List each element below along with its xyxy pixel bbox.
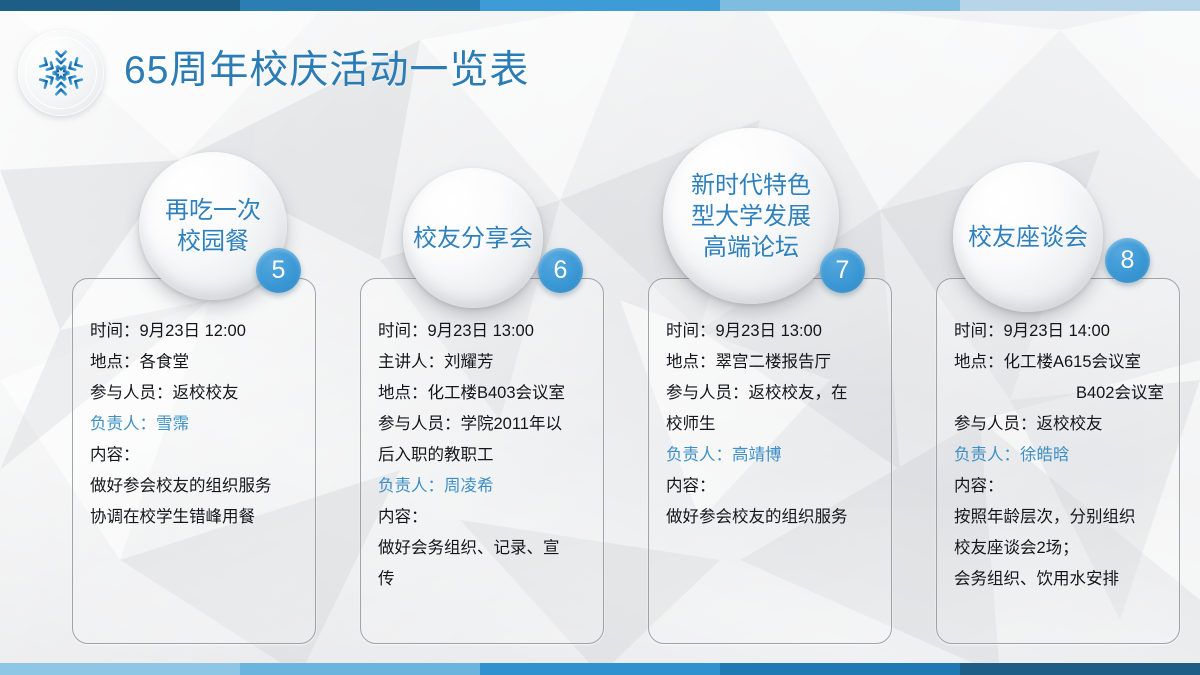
bottom-accent-bar <box>0 663 1200 675</box>
slide-header: 65周年校庆活动一览表 <box>0 11 1200 106</box>
activity-bubble-label-line: 型大学发展 <box>691 201 811 232</box>
card-body: 时间：9月23日 14:00地点：化工楼A615会议室B402会议室参与人员：返… <box>954 316 1166 595</box>
activity-bubble-label-line: 校园餐 <box>165 226 261 257</box>
top-accent-bar <box>0 0 1200 11</box>
card-detail-line: 时间：9月23日 13:00 <box>378 316 590 347</box>
card-body: 时间：9月23日 13:00主讲人：刘耀芳地点：化工楼B403会议室参与人员：学… <box>378 316 590 595</box>
card-detail-line: 会务组织、饮用水安排 <box>954 564 1166 595</box>
card-detail-line: 内容： <box>378 502 590 533</box>
card-detail-line: 主讲人：刘耀芳 <box>378 347 590 378</box>
card-detail-line: 传 <box>378 564 590 595</box>
activity-number-badge[interactable]: 8 <box>1105 238 1150 283</box>
card-detail-line: 按照年龄层次，分别组织 <box>954 502 1166 533</box>
card-detail-line: 参与人员：学院2011年以 <box>378 409 590 440</box>
card-owner-line: 负责人：徐皓晗 <box>954 440 1166 471</box>
card-owner-line: 负责人：周凌希 <box>378 471 590 502</box>
activity-bubble-7[interactable]: 新时代特色型大学发展高端论坛 <box>663 128 839 304</box>
page-title: 65周年校庆活动一览表 <box>124 39 529 95</box>
card-detail-line: 做好参会校友的组织服务 <box>90 471 302 502</box>
activity-bubble-label-line: 校友座谈会 <box>968 222 1088 253</box>
activity-bubble-label-line: 校友分享会 <box>413 223 533 254</box>
card-detail-line: 后入职的教职工 <box>378 440 590 471</box>
activity-bubble-6[interactable]: 校友分享会 <box>403 168 543 308</box>
activity-bubble-label: 校友座谈会 <box>960 222 1096 253</box>
activity-number-badge[interactable]: 5 <box>256 248 301 293</box>
accent-bar-segment-5 <box>960 0 1200 11</box>
card-detail-line: 做好参会校友的组织服务 <box>666 502 878 533</box>
activity-bubble-label-line: 再吃一次 <box>165 195 261 226</box>
snowflake-icon <box>35 47 87 99</box>
activity-number-badge[interactable]: 7 <box>820 248 865 293</box>
accent-bar-segment-2 <box>240 0 480 11</box>
activity-bubble-label-line: 新时代特色 <box>691 170 811 201</box>
logo-badge <box>18 30 104 116</box>
card-detail-line: 地点：化工楼A615会议室 <box>954 347 1166 378</box>
activity-card-6[interactable]: 时间：9月23日 13:00主讲人：刘耀芳地点：化工楼B403会议室参与人员：学… <box>360 278 604 644</box>
activity-bubble-label: 新时代特色型大学发展高端论坛 <box>683 170 819 263</box>
card-detail-line: 参与人员：返校校友，在 <box>666 378 878 409</box>
activity-bubble-label: 校友分享会 <box>405 223 541 254</box>
accent-bar-segment-3 <box>480 0 720 11</box>
card-detail-line: 参与人员：返校校友 <box>90 378 302 409</box>
card-detail-line: 地点：各食堂 <box>90 347 302 378</box>
card-detail-line: 地点：翠宫二楼报告厅 <box>666 347 878 378</box>
card-detail-line: 内容： <box>90 440 302 471</box>
card-owner-line: 负责人：雪霈 <box>90 409 302 440</box>
activity-bubble-8[interactable]: 校友座谈会 <box>953 162 1103 312</box>
activity-bubble-label: 再吃一次校园餐 <box>157 195 269 257</box>
card-detail-line: 校友座谈会2场； <box>954 533 1166 564</box>
card-detail-line: 校师生 <box>666 409 878 440</box>
card-detail-line: 时间：9月23日 12:00 <box>90 316 302 347</box>
accent-bar-segment-1 <box>0 663 240 675</box>
accent-bar-segment-2 <box>240 663 480 675</box>
accent-bar-segment-4 <box>720 663 960 675</box>
card-body: 时间：9月23日 13:00地点：翠宫二楼报告厅参与人员：返校校友，在校师生负责… <box>666 316 878 533</box>
activity-card-8[interactable]: 时间：9月23日 14:00地点：化工楼A615会议室B402会议室参与人员：返… <box>936 278 1180 644</box>
card-detail-line: 内容： <box>954 471 1166 502</box>
card-detail-line: 内容： <box>666 471 878 502</box>
card-detail-line: B402会议室 <box>954 378 1166 409</box>
activity-card-7[interactable]: 时间：9月23日 13:00地点：翠宫二楼报告厅参与人员：返校校友，在校师生负责… <box>648 278 892 644</box>
activity-number-badge[interactable]: 6 <box>538 248 583 293</box>
card-body: 时间：9月23日 12:00地点：各食堂参与人员：返校校友负责人：雪霈内容：做好… <box>90 316 302 533</box>
card-detail-line: 做好会务组织、记录、宣 <box>378 533 590 564</box>
accent-bar-segment-4 <box>720 0 960 11</box>
card-owner-line: 负责人：高靖博 <box>666 440 878 471</box>
accent-bar-segment-5 <box>960 663 1200 675</box>
accent-bar-segment-3 <box>480 663 720 675</box>
card-detail-line: 参与人员：返校校友 <box>954 409 1166 440</box>
activity-bubble-label-line: 高端论坛 <box>691 232 811 263</box>
accent-bar-segment-1 <box>0 0 240 11</box>
card-detail-line: 时间：9月23日 14:00 <box>954 316 1166 347</box>
card-detail-line: 时间：9月23日 13:00 <box>666 316 878 347</box>
slide-canvas: 65周年校庆活动一览表 时间：9月23日 12:00地点：各食堂参与人员：返校校… <box>0 0 1200 675</box>
activity-card-5[interactable]: 时间：9月23日 12:00地点：各食堂参与人员：返校校友负责人：雪霈内容：做好… <box>72 278 316 644</box>
card-detail-line: 地点：化工楼B403会议室 <box>378 378 590 409</box>
card-detail-line: 协调在校学生错峰用餐 <box>90 502 302 533</box>
